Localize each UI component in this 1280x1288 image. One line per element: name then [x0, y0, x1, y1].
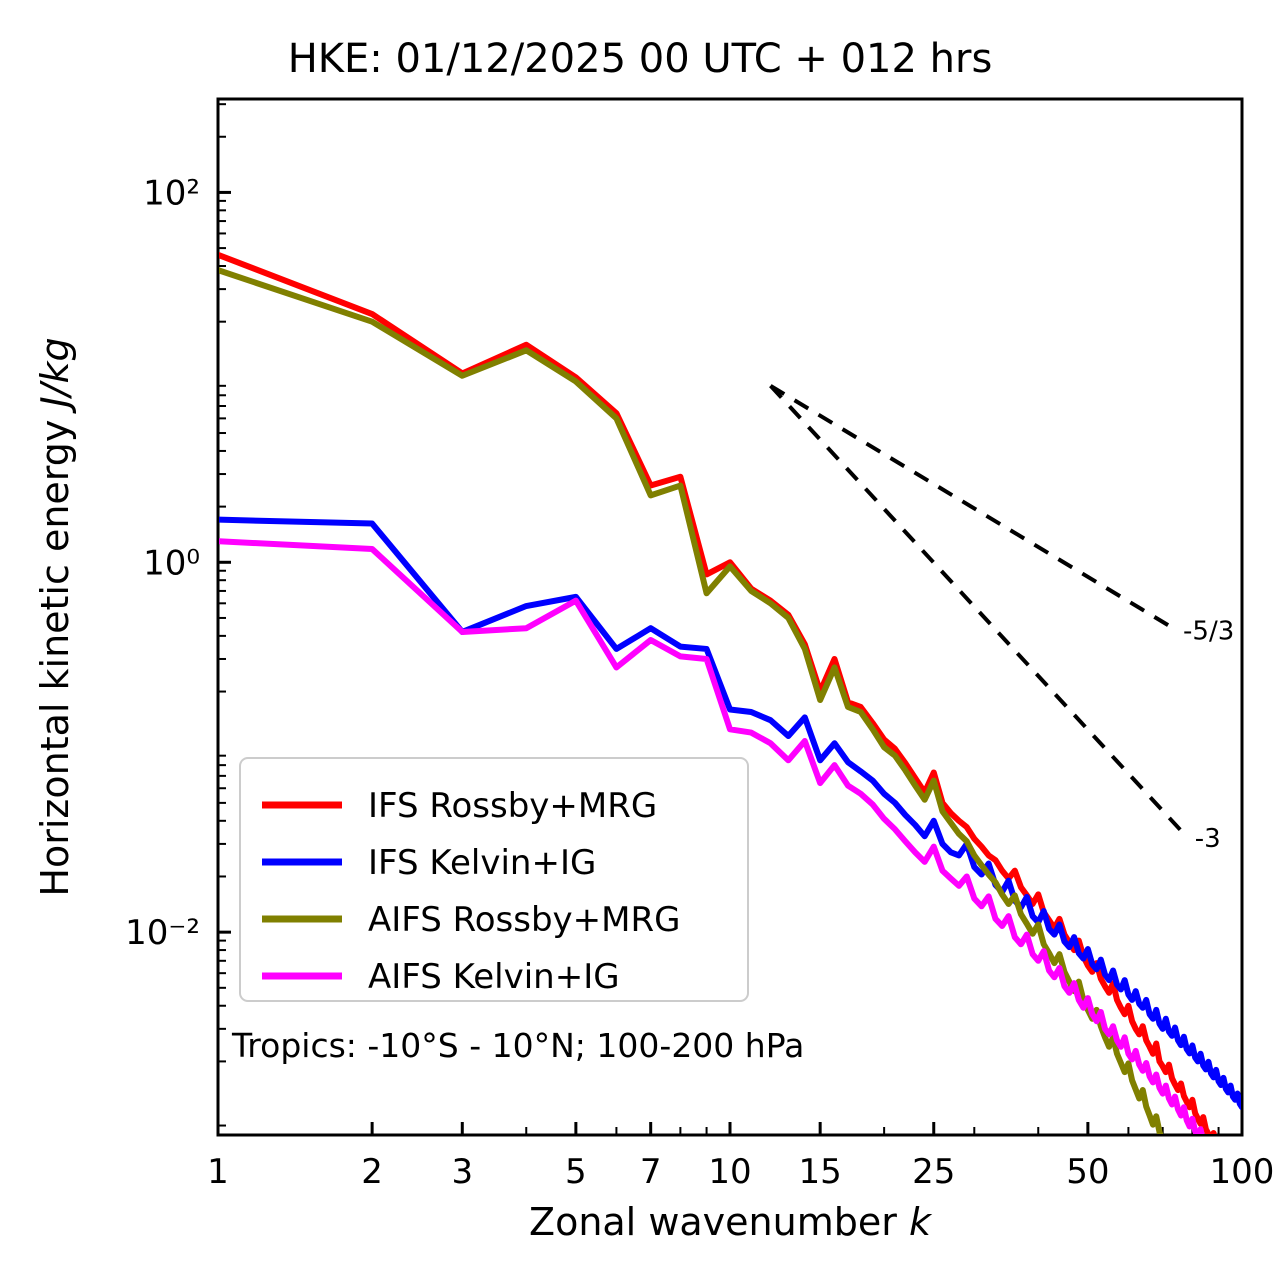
legend-label-0[interactable]: IFS Rossby+MRG	[368, 786, 657, 826]
y-axis-ticks: 10²10⁰10⁻²	[125, 173, 231, 953]
x-tick-label: 15	[799, 1152, 842, 1192]
y-axis-title: Horizontal kinetic energy J/kg	[33, 337, 77, 896]
legend[interactable]: IFS Rossby+MRGIFS Kelvin+IGAIFS Rossby+M…	[240, 758, 748, 1001]
region-annotation: Tropics: -10°S - 10°N; 100-200 hPa	[231, 1026, 804, 1065]
y-tick-label: 10⁰	[143, 543, 200, 583]
legend-label-3[interactable]: AIFS Kelvin+IG	[368, 957, 620, 997]
y-tick-label: 10²	[143, 173, 200, 213]
legend-label-2[interactable]: AIFS Rossby+MRG	[368, 900, 680, 940]
figure-canvas: HKE: 01/12/2025 00 UTC + 012 hrs 1235710…	[0, 0, 1280, 1288]
spectrum-plot: 1235710152550100 10²10⁰10⁻² -5/3-3 Zonal…	[0, 0, 1280, 1288]
x-tick-label: 5	[565, 1152, 587, 1192]
x-tick-label: 25	[912, 1152, 955, 1192]
reference-slope-label-0: -5/3	[1183, 616, 1234, 646]
x-tick-label: 10	[708, 1152, 751, 1192]
x-tick-label: 2	[361, 1152, 383, 1192]
x-tick-label: 50	[1066, 1152, 1109, 1192]
x-axis-title: Zonal wavenumber k	[529, 1200, 933, 1244]
x-tick-label: 7	[640, 1152, 662, 1192]
x-tick-label: 1	[207, 1152, 229, 1192]
x-tick-label: 3	[451, 1152, 473, 1192]
legend-label-1[interactable]: IFS Kelvin+IG	[368, 843, 596, 883]
reference-slope-label-1: -3	[1195, 824, 1221, 854]
x-tick-label: 100	[1210, 1152, 1275, 1192]
y-tick-label: 10⁻²	[125, 913, 200, 953]
